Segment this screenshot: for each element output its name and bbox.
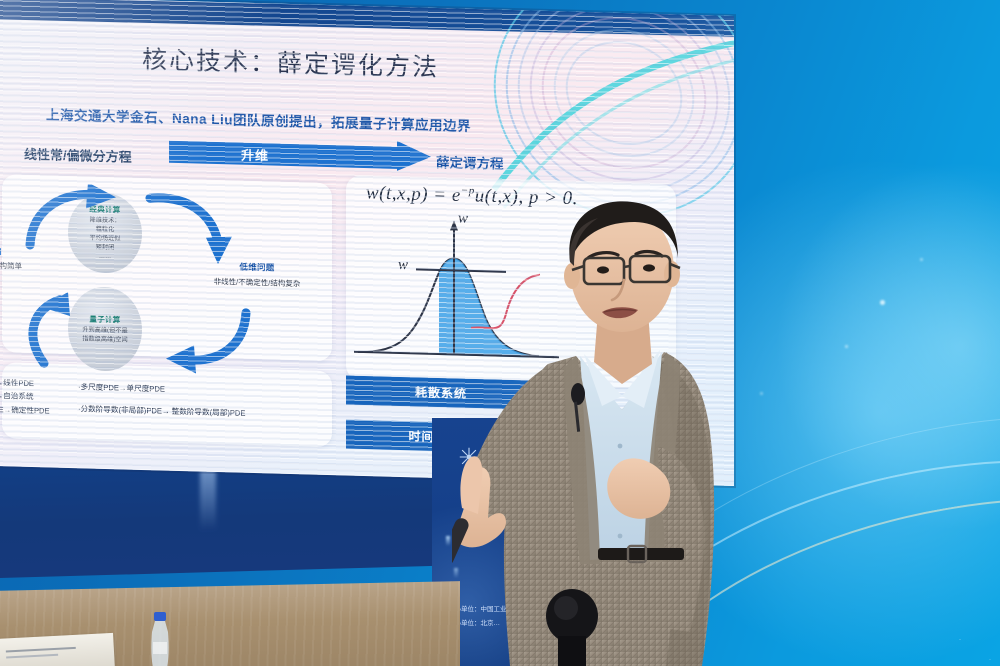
left-stub-chip-icon xyxy=(0,248,1,255)
cycle-arrow-up-left-2-icon xyxy=(16,289,126,372)
plot-second-label: w xyxy=(398,257,408,274)
list-item: 统→自治系统 xyxy=(0,389,50,404)
slide-subtitle: 上海交通大学金石、Nana Liu团队原创提出，拓展量子计算应用边界 xyxy=(46,103,471,135)
flow-right-label: 薛定谔方程 xyxy=(436,151,504,173)
backdrop-glow-dot xyxy=(880,300,885,305)
equation-lhs: w(t,x,p) = e xyxy=(366,182,461,206)
speaker-figure xyxy=(452,196,782,666)
left-stub-text: 结构简单 xyxy=(0,260,22,272)
backdrop-glow-dot xyxy=(920,258,923,261)
flow-arrow-icon: 升维 xyxy=(169,137,459,175)
table-paper xyxy=(0,633,115,666)
flow-left-label: 线性常/偏微分方程 xyxy=(24,144,132,166)
cycle-arrow-down-right-icon xyxy=(140,190,250,269)
backdrop-glow-dot xyxy=(845,345,848,348)
water-bottle xyxy=(145,612,175,666)
left-stub-label: 结构简单 xyxy=(0,248,22,272)
list-item: 程→线性PDE xyxy=(0,376,50,391)
transform-list-left: 程→线性PDE 统→自治系统 PDE→确定性PDE xyxy=(0,376,50,418)
low-dimension-problem-box: 低维问题 非线性/不确定性/结构复杂 xyxy=(182,259,332,290)
speaker-belt xyxy=(598,548,684,560)
transform-list-right: ·多尺度PDE→单尺度PDE ·分数阶导数(非局部)PDE→ 整数阶导数(局部)… xyxy=(78,380,245,420)
screenshot-stage: 核心技术：薛定谔化方法 上海交通大学金石、Nana Liu团队原创提出，拓展量子… xyxy=(0,0,1000,666)
cycle-arrow-up-left-icon xyxy=(22,183,152,257)
lapel-microphone-icon xyxy=(571,383,585,405)
slide-title: 核心技术：薛定谔化方法 xyxy=(142,40,439,84)
list-item: PDE→确定性PDE xyxy=(0,402,50,417)
cycle-arrow-left-down-icon xyxy=(140,300,260,379)
flow-arrow-label: 升维 xyxy=(241,145,269,165)
